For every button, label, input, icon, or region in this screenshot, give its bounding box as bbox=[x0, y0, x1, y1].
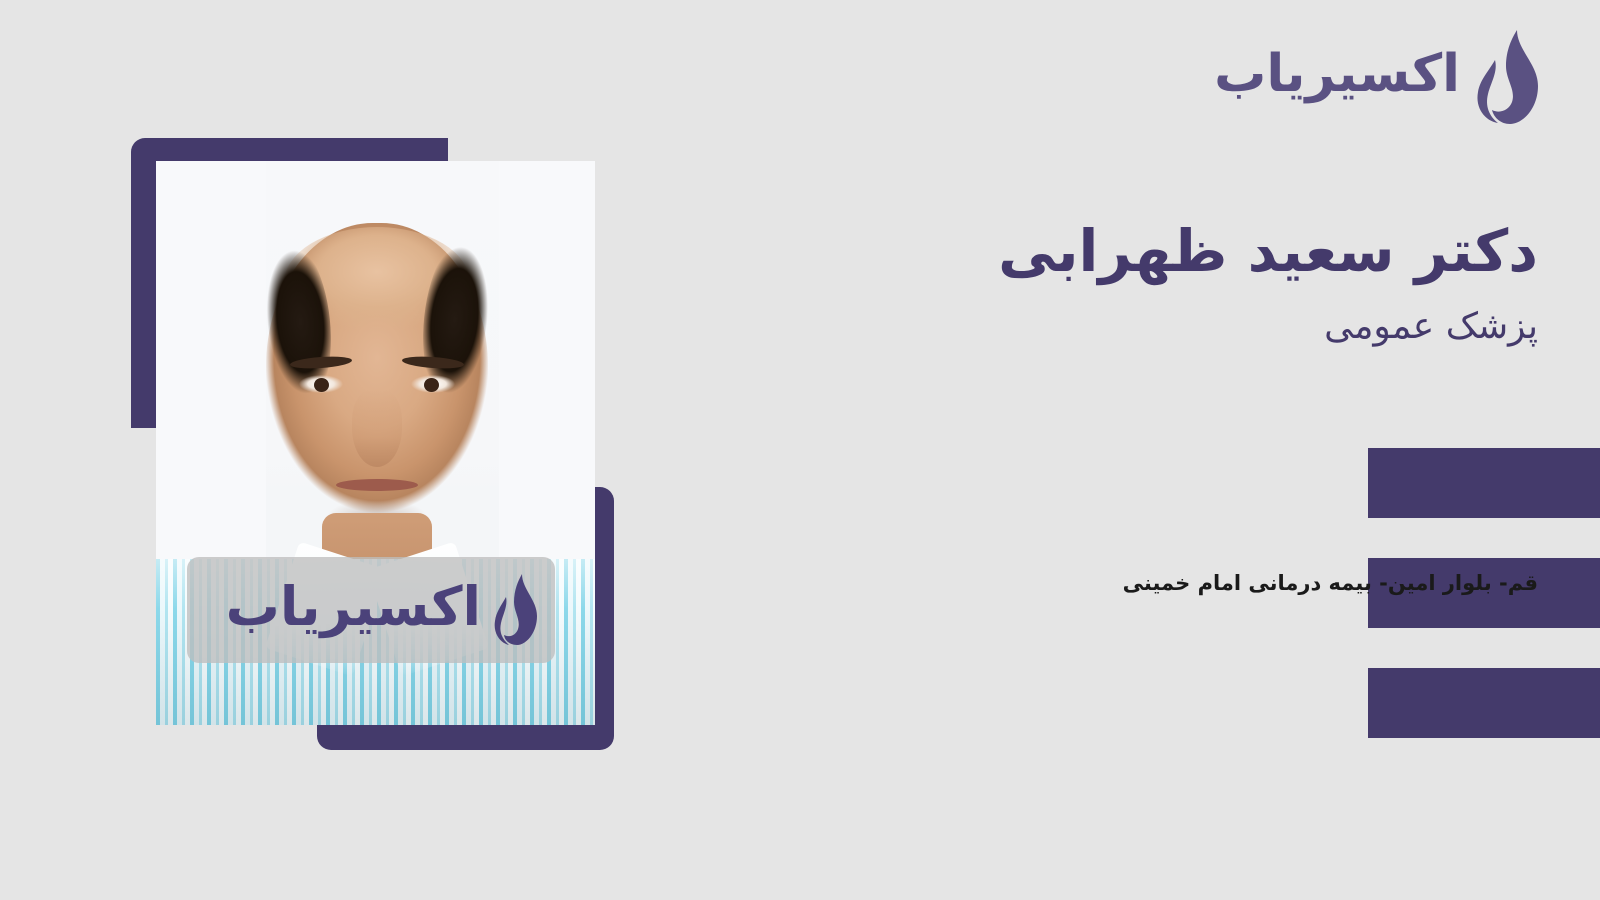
doctor-profile-card: اکسیریاب bbox=[0, 0, 1600, 900]
decorative-bar-1 bbox=[1368, 448, 1600, 518]
photo-bg-left bbox=[156, 161, 266, 571]
photo-watermark: اکسیریاب bbox=[187, 557, 555, 663]
photo-block: اکسیریاب bbox=[0, 0, 700, 900]
portrait-pupil-right bbox=[424, 378, 439, 392]
photo-bg-right bbox=[499, 161, 595, 571]
portrait-pupil-left bbox=[314, 378, 329, 392]
watermark-text: اکسیریاب bbox=[226, 580, 481, 640]
decorative-bar-3 bbox=[1368, 668, 1600, 738]
watermark-flame-drop-icon bbox=[489, 573, 539, 647]
brand-logo[interactable]: اکسیریاب bbox=[1214, 28, 1542, 126]
flame-drop-icon bbox=[1470, 28, 1542, 126]
doctor-address: قم- بلوار امین- بیمه درمانی امام خمینی bbox=[1123, 568, 1538, 600]
doctor-specialty: پزشک عمومی bbox=[838, 302, 1538, 352]
portrait-mouth bbox=[336, 479, 418, 491]
doctor-photo: اکسیریاب bbox=[156, 161, 595, 725]
brand-name: اکسیریاب bbox=[1214, 48, 1460, 106]
doctor-name: دکتر سعید ظهرابی bbox=[838, 215, 1538, 288]
doctor-info: دکتر سعید ظهرابی پزشک عمومی bbox=[838, 215, 1538, 352]
portrait-nose bbox=[352, 389, 402, 467]
